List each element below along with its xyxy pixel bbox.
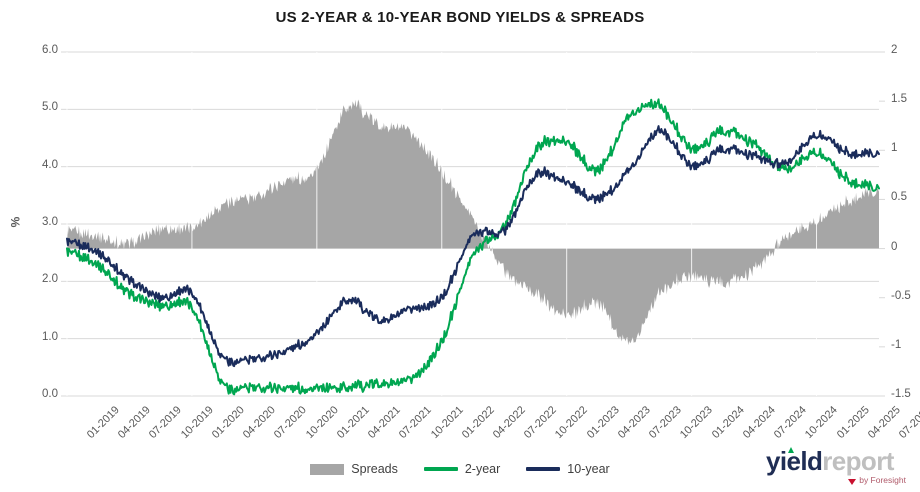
logo-triangle-icon xyxy=(848,479,856,485)
logo-tagline: by Foresight xyxy=(859,475,906,485)
chart-container: US 2-YEAR & 10-YEAR BOND YIELDS & SPREAD… xyxy=(0,0,920,492)
yieldreport-logo: yieldreport by Foresight xyxy=(758,446,908,486)
logo-word-primary: yield xyxy=(766,446,822,476)
logo-accent-icon xyxy=(788,447,794,453)
plot-area xyxy=(0,0,920,492)
logo-word-secondary: report xyxy=(822,446,894,476)
